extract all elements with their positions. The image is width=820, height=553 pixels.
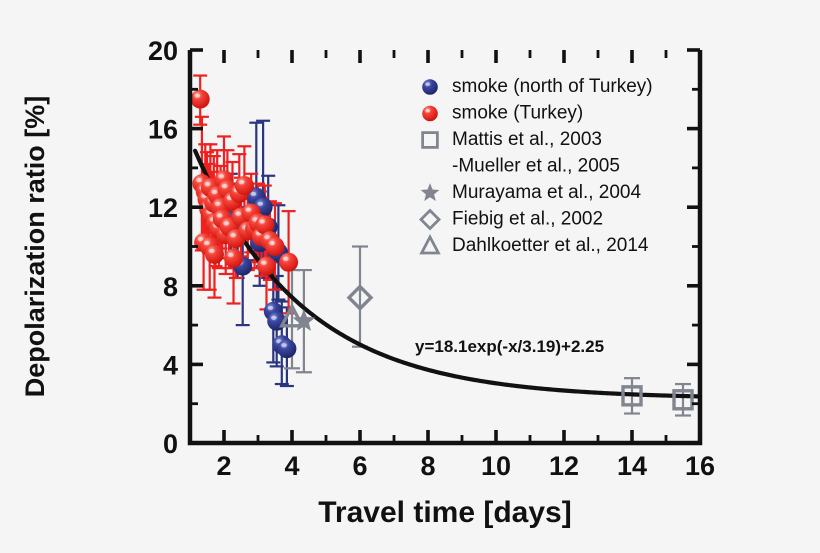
specular-highlight [196,178,202,182]
legend-label: Mattis et al., 2003 [452,129,602,150]
y-tick-label: 0 [163,429,178,459]
legend-label: smoke (north of Turkey) [452,76,653,97]
specular-highlight [235,212,241,216]
specular-highlight [239,180,245,184]
specular-highlight [259,219,265,223]
x-tick-label: 14 [617,451,647,481]
y-tick-label: 12 [148,193,178,223]
legend-label: Fiebig et al., 2002 [452,209,603,230]
specular-highlight [215,202,221,206]
data-point-star [421,183,440,201]
data-point-sphere-red [224,249,243,268]
depolarization-scatter-plot: 246810121416048121620Travel time [days]D… [0,0,820,553]
x-tick-label: 2 [216,451,231,481]
specular-highlight [268,306,274,310]
specular-highlight [425,109,430,112]
data-point-sphere-red [235,176,254,195]
x-tick-label: 6 [352,451,367,481]
data-point-sphere-red [422,106,438,122]
x-tick-label: 16 [685,451,715,481]
specular-highlight [223,221,229,225]
specular-highlight [261,261,267,265]
legend-label: Murayama et al., 2004 [452,182,641,203]
specular-highlight [230,233,236,237]
y-tick-label: 20 [148,36,178,66]
data-point-sphere-red [279,253,298,272]
legend-label: Dahlkoetter et al., 2014 [452,235,649,256]
specular-highlight [212,190,218,194]
x-tick-label: 8 [420,451,435,481]
errorbar [675,384,691,415]
specular-highlight [218,174,224,178]
x-tick-label: 4 [284,451,299,481]
specular-highlight [217,213,223,217]
specular-highlight [205,182,211,186]
data-point-sphere-blue [422,79,438,95]
legend-label: -Mueller et al., 2005 [452,156,620,177]
chart-figure: 246810121416048121620Travel time [days]D… [0,0,820,553]
data-point-sphere-red [257,257,276,276]
specular-highlight [269,241,275,245]
specular-highlight [283,257,289,261]
data-point-sphere-red [266,237,285,256]
x-tick-label: 12 [549,451,579,481]
data-point-sphere-blue [277,339,296,358]
specular-highlight [264,235,270,239]
data-point-square [423,133,438,148]
errorbar [352,247,368,347]
y-tick-label: 16 [148,115,178,145]
y-tick-label: 8 [163,272,178,302]
specular-highlight [257,202,263,206]
data-point-diamond [421,210,439,228]
specular-highlight [222,184,228,188]
data-point-sphere-red [205,245,224,264]
x-tick-label: 10 [481,451,511,481]
specular-highlight [271,316,277,320]
data-point-sphere-red [191,90,210,109]
y-axis-title: Depolarization ratio [%] [20,96,50,398]
specular-highlight [195,94,201,98]
data-point-triangle [422,237,439,253]
specular-highlight [251,192,257,196]
fit-equation-text: y=18.1exp(-x/3.19)+2.25 [415,337,604,356]
legend-label: smoke (Turkey) [452,103,583,124]
fit-equation-annotation: y=18.1exp(-x/3.19)+2.25 [415,337,604,356]
specular-highlight [209,249,215,253]
y-tick-label: 4 [163,350,178,380]
specular-highlight [228,253,234,257]
specular-highlight [204,241,210,245]
specular-highlight [425,82,430,85]
specular-highlight [246,208,252,212]
chart-legend: smoke (north of Turkey)smoke (Turkey)Mat… [421,76,653,256]
specular-highlight [281,343,287,347]
x-axis-title: Travel time [days] [318,496,571,529]
axis-labels-layer: 246810121416048121620Travel time [days]D… [20,36,715,529]
